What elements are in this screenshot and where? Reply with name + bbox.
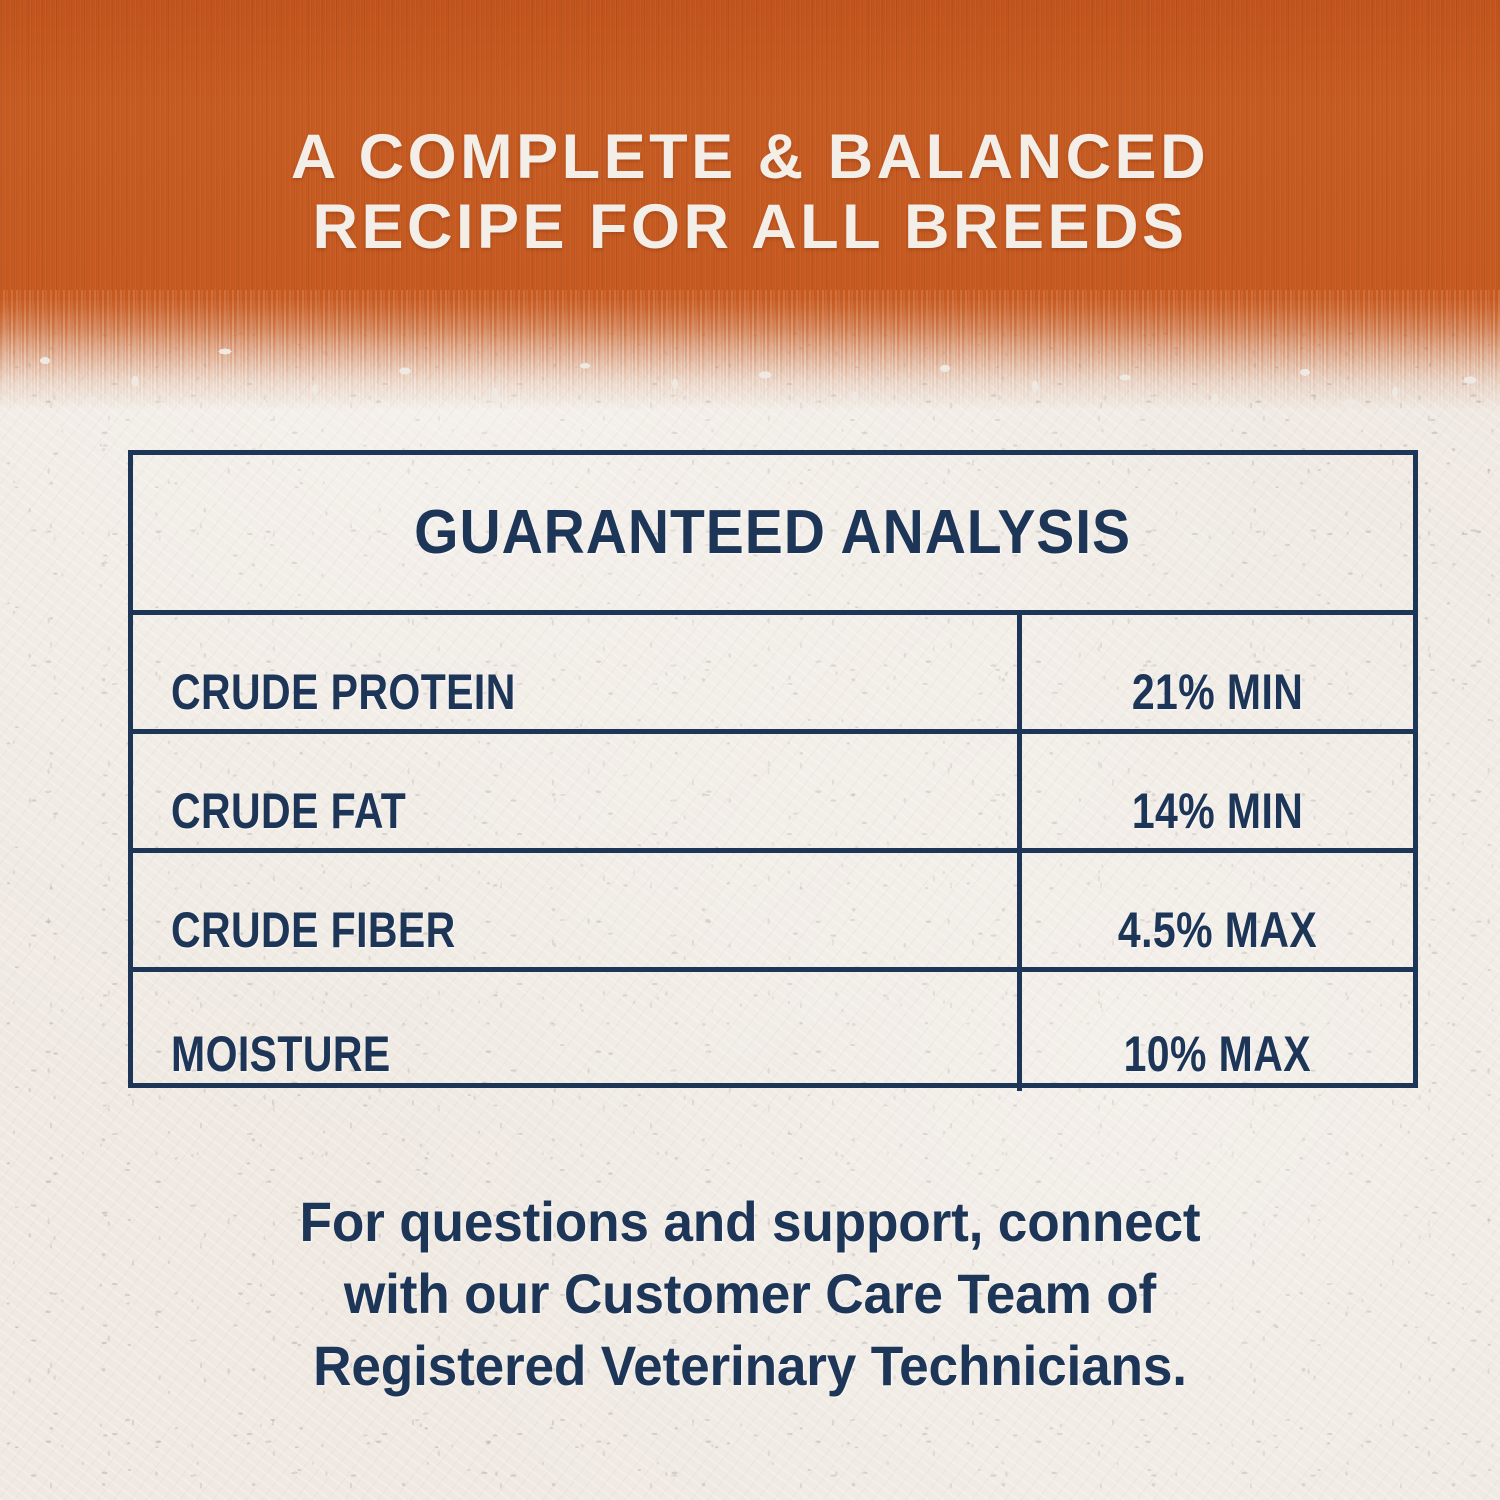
nutrient-label-cell: CRUDE PROTEIN [133,615,1022,729]
customer-care-note-line-3: Registered Veterinary Technicians. [152,1330,1349,1402]
nutrient-label-cell: CRUDE FIBER [133,853,1022,967]
nutrient-value-cell: 14% MIN [1022,734,1413,848]
table-row: CRUDE PROTEIN 21% MIN [133,615,1413,734]
nutrient-label: CRUDE FAT [171,786,406,836]
table-body: CRUDE PROTEIN 21% MIN CRUDE FAT 14% MIN … [133,615,1413,1091]
nutrient-value: 14% MIN [1132,786,1303,836]
customer-care-note: For questions and support, connect with … [120,1186,1380,1402]
guaranteed-analysis-table: GUARANTEED ANALYSIS CRUDE PROTEIN 21% MI… [128,450,1418,1088]
table-title-row: GUARANTEED ANALYSIS [133,455,1413,615]
nutrient-value-cell: 4.5% MAX [1022,853,1413,967]
orange-band-speckle-edge [0,280,1500,410]
table-row: CRUDE FIBER 4.5% MAX [133,853,1413,972]
nutrient-label: CRUDE PROTEIN [171,667,516,717]
customer-care-note-line-2: with our Customer Care Team of [152,1258,1349,1330]
table-row: CRUDE FAT 14% MIN [133,734,1413,853]
headline: A COMPLETE & BALANCED RECIPE FOR ALL BRE… [0,122,1500,262]
nutrient-label-cell: MOISTURE [133,972,1022,1091]
headline-line-2: RECIPE FOR ALL BREEDS [0,192,1500,262]
table-title: GUARANTEED ANALYSIS [415,497,1132,568]
nutrient-value-cell: 21% MIN [1022,615,1413,729]
customer-care-note-line-1: For questions and support, connect [152,1186,1349,1258]
nutrient-value: 21% MIN [1132,667,1303,717]
nutrient-value: 4.5% MAX [1118,905,1317,955]
nutrient-value-cell: 10% MAX [1022,972,1413,1091]
nutrient-value: 10% MAX [1124,1029,1311,1079]
table-row: MOISTURE 10% MAX [133,972,1413,1091]
headline-line-1: A COMPLETE & BALANCED [0,122,1500,192]
nutrient-label-cell: CRUDE FAT [133,734,1022,848]
product-info-panel: A COMPLETE & BALANCED RECIPE FOR ALL BRE… [0,0,1500,1500]
nutrient-label: CRUDE FIBER [171,905,456,955]
nutrient-label: MOISTURE [171,1029,391,1079]
